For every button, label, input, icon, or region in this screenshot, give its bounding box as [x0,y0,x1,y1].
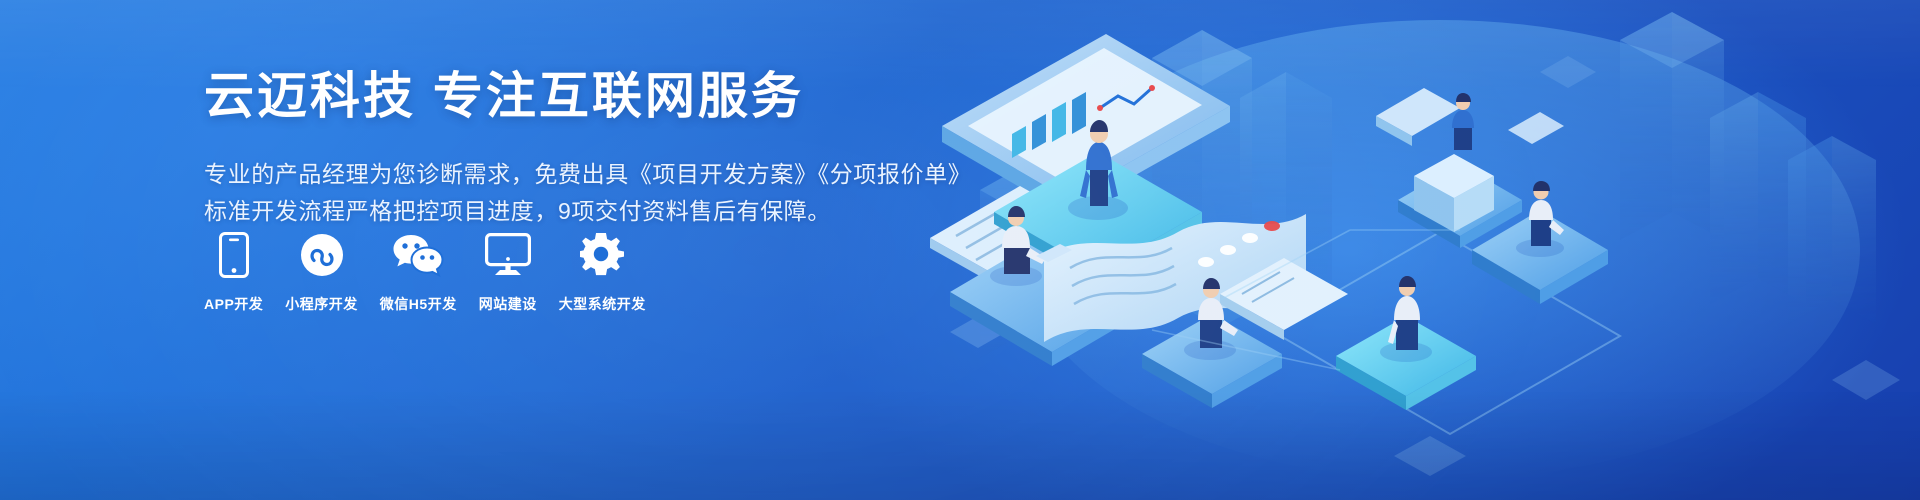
subtitle-line-2: 标准开发流程严格把控项目进度，9项交付资料售后有保障。 [204,193,984,230]
subtitle-line-1: 专业的产品经理为您诊断需求，免费出具《项目开发方案》《分项报价单》 [204,156,984,193]
service-label-wechat: 微信H5开发 [380,294,457,314]
service-item-wechat[interactable]: 微信H5开发 [380,232,457,314]
service-item-miniprogram[interactable]: 小程序开发 [285,232,358,314]
promo-banner: 云迈科技 专注互联网服务 专业的产品经理为您诊断需求，免费出具《项目开发方案》《… [0,0,1920,500]
service-item-system[interactable]: 大型系统开发 [559,232,646,314]
service-icon-row: APP开发 小程序开发 微信 [204,232,646,314]
banner-subtitle: 专业的产品经理为您诊断需求，免费出具《项目开发方案》《分项报价单》 标准开发流程… [204,156,984,231]
service-label-miniprogram: 小程序开发 [285,294,358,314]
mini-program-icon [300,232,344,278]
mobile-phone-icon [219,232,249,278]
service-item-website[interactable]: 网站建设 [479,232,537,314]
service-label-website: 网站建设 [479,294,537,314]
wechat-icon [392,232,444,278]
service-label-app: APP开发 [204,294,263,314]
gear-icon [580,232,624,278]
service-label-system: 大型系统开发 [559,294,646,314]
monitor-icon [485,232,531,278]
banner-text-block: 云迈科技 专注互联网服务 专业的产品经理为您诊断需求，免费出具《项目开发方案》《… [204,68,984,230]
isometric-tech-illustration [920,0,1920,500]
service-item-app[interactable]: APP开发 [204,232,263,314]
banner-headline: 云迈科技 专注互联网服务 [204,68,984,126]
